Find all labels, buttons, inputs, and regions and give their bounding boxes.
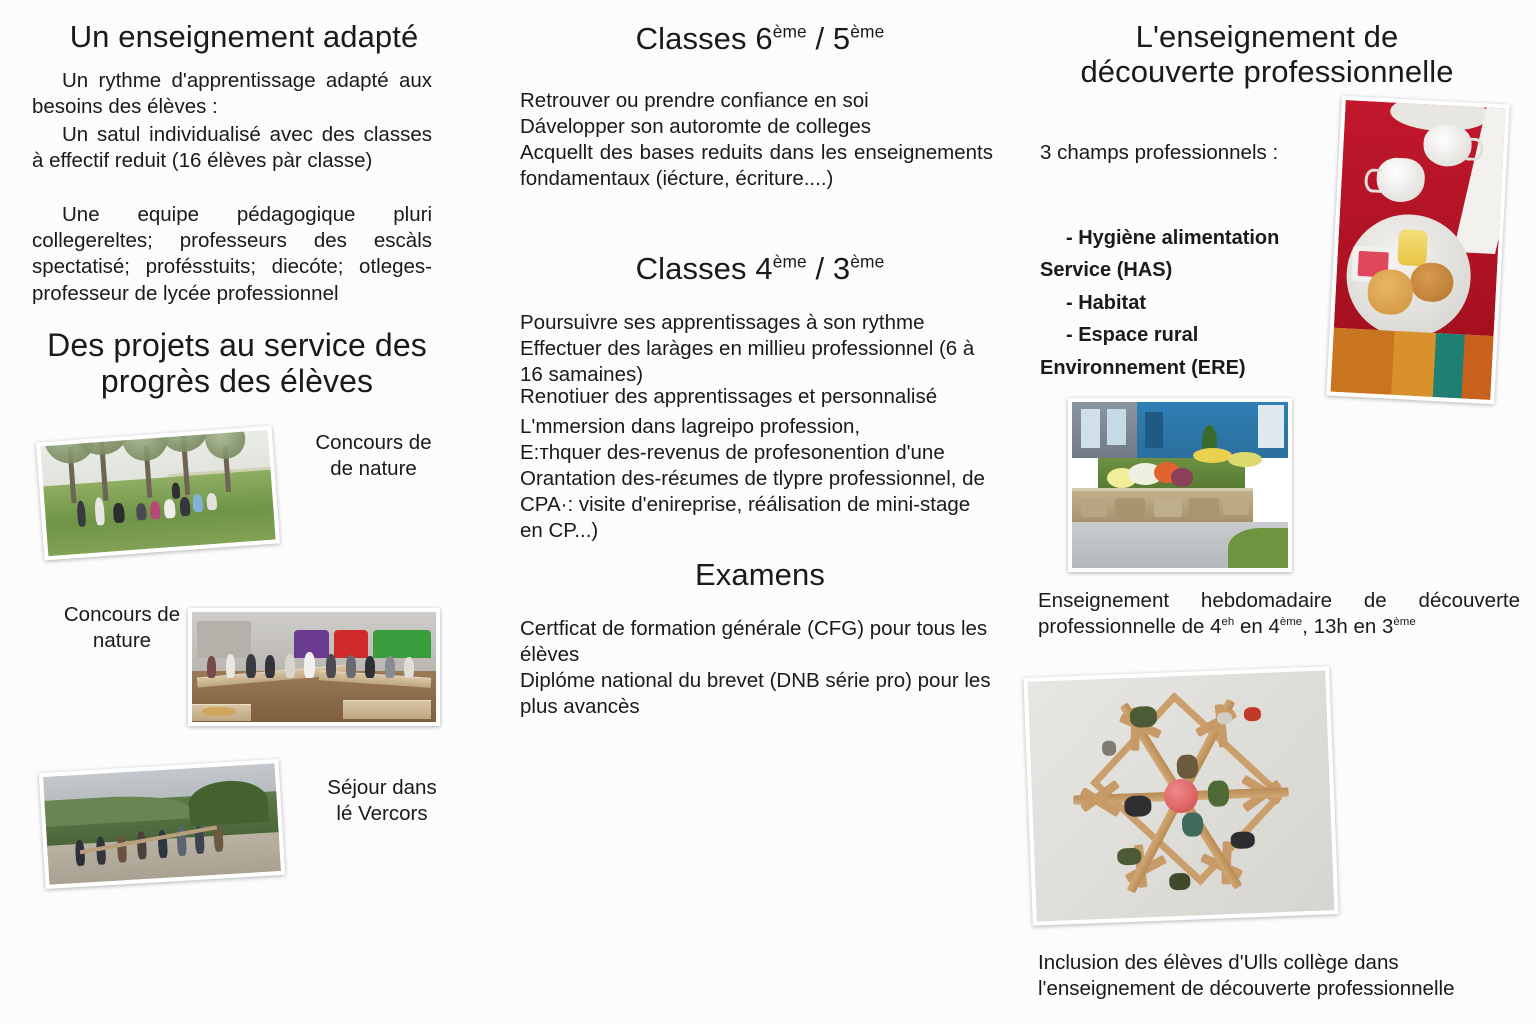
photo-snowflake-artwork — [1023, 666, 1338, 926]
caption-hebdo-sup1: eh — [1222, 616, 1235, 628]
caption-inclusion-ulis: Inclusion des élèves d'Ulls collège dans… — [1038, 950, 1528, 1002]
paragraph-equipe: Une equipe pédagogique pluri collegerelt… — [32, 202, 432, 307]
caption-concours-nature-1-l1: Concours de — [315, 431, 431, 454]
heading-decouverte-professionnelle: L'enseignement dedécouverte professionne… — [1032, 20, 1502, 89]
heading-classes-6-5-prefix: Classes 6 — [636, 21, 773, 56]
photo-classroom-hall — [188, 608, 440, 726]
heading-decouverte-l2: découverte professionnelle — [1080, 54, 1453, 89]
caption-hebdo-mid2: , 13h en 3 — [1302, 615, 1393, 638]
line-effectuer-stages: Effectuer des laràges en millieu profess… — [520, 336, 1000, 388]
heading-examens: Examens — [500, 558, 1020, 593]
caption-concours-nature-1: Concours dede nature — [286, 430, 461, 482]
heading-classes-4-3-mid: / 3 — [807, 251, 850, 286]
caption-concours-nature-2-l1: Concours de — [64, 603, 180, 626]
heading-classes-6-5: Classes 6ème / 5ème — [500, 22, 1020, 57]
line-retrouver-confiance: Retrouver ou prendre confiance en soi — [520, 88, 996, 114]
text-3-champs: 3 champs professionnels : — [1040, 140, 1340, 166]
column-right: L'enseignement dedécouverte professionne… — [1032, 0, 1524, 1024]
paragraph-equipe-text: Une equipe pédagogique pluri collegerelt… — [32, 203, 432, 305]
heading-classes-5-sup: ème — [850, 22, 884, 42]
caption-hebdo-sup2: ème — [1280, 616, 1302, 628]
photo-hiking-vercors — [39, 759, 285, 889]
paragraph-suivi-text: Un satul individualisé avec des classes … — [32, 123, 432, 172]
champ-espace-rural-bullet: - Espace rural — [1066, 324, 1198, 346]
heading-classes-6-5-mid: / 5 — [807, 21, 850, 56]
line-developper-autonomie: Dávelopper son autoromte de colleges — [520, 114, 996, 140]
caption-sejour-vercors: Séjour danslé Vercors — [296, 775, 468, 827]
paragraph-rythme: Un rythme d'apprentissage adapté aux bes… — [32, 68, 432, 120]
paragraph-suivi: Un satul individualisé avec des classes … — [32, 122, 432, 174]
champ-ere-cont: Environnement (ERE) — [1040, 357, 1246, 379]
caption-concours-nature-1-l2: de nature — [330, 457, 417, 480]
line-immersion-profession: L'mmersion dans lagreipo profession, — [520, 414, 1000, 440]
line-acquerir-bases: Acquellt des bases reduits dans les ense… — [520, 140, 993, 192]
caption-concours-nature-2-l2: nature — [93, 629, 151, 652]
champ-has-cont: Service (HAS) — [1040, 259, 1172, 281]
column-middle: Classes 6ème / 5ème Retrouver ou prendre… — [500, 0, 1020, 1024]
caption-sejour-vercors-l1: Séjour dans — [327, 776, 436, 799]
heading-projets-service: Des projets au service des progrès des é… — [28, 328, 446, 400]
heading-classes-4-3: Classes 4ème / 3ème — [500, 252, 1020, 287]
caption-sejour-vercors-l2: lé Vercors — [336, 802, 427, 825]
caption-hebdo-mid1: en 4 — [1234, 615, 1280, 638]
photo-outdoor-group-grass — [36, 426, 280, 561]
heading-classes-4-sup: ème — [773, 252, 807, 272]
heading-enseignement-adapte: Un enseignement adapté — [28, 20, 460, 55]
column-left: Un enseignement adapté Un rythme d'appre… — [28, 0, 460, 1024]
caption-inclusion-l1: Inclusion des élèves d'Ulls collège dans — [1038, 951, 1399, 974]
photo-garden-planter — [1068, 398, 1292, 572]
caption-inclusion-l2: l'enseignement de découverte professionn… — [1038, 977, 1454, 1000]
line-poursuivre-apprentissages: Poursuivre ses apprentissages à son ryth… — [520, 310, 1000, 336]
paragraph-rythme-text: Un rythme d'apprentissage adapté aux bes… — [32, 69, 432, 118]
caption-concours-nature-2: Concours denature — [32, 602, 212, 654]
line-evaluer-revenus: E:тhquer des-revenus de profesonention d… — [520, 440, 1000, 466]
brochure-page: Un enseignement adapté Un rythme d'appre… — [0, 0, 1536, 1024]
line-cfg: Certficat de formation générale (CFG) po… — [520, 616, 1000, 668]
caption-hebdo-sup3: ème — [1393, 616, 1415, 628]
champ-has-bullet: - Hygiène alimentation — [1066, 227, 1279, 249]
heading-classes-4-3-prefix: Classes 4 — [636, 251, 773, 286]
champ-habitat-bullet: - Habitat — [1066, 292, 1146, 314]
line-orientation-cpa: Orantation des-réεumes de tlypre profess… — [520, 466, 998, 545]
heading-classes-3-sup: ème — [850, 252, 884, 272]
photo-meal-red-table — [1326, 96, 1509, 404]
caption-enseignement-hebdomadaire: Enseignement hebdomadaire de découverte … — [1038, 588, 1520, 640]
line-dnb: Diplóme national du brevet (DNB série pr… — [520, 668, 1000, 720]
heading-decouverte-l1: L'enseignement de — [1136, 19, 1399, 54]
heading-classes-6-sup: ème — [773, 22, 807, 42]
list-champs-professionnels: - Hygiène alimentationService (HAS)- Hab… — [1040, 222, 1340, 384]
line-renouer-apprentissages: Renotiuer des apprentissages et personna… — [520, 384, 1000, 410]
